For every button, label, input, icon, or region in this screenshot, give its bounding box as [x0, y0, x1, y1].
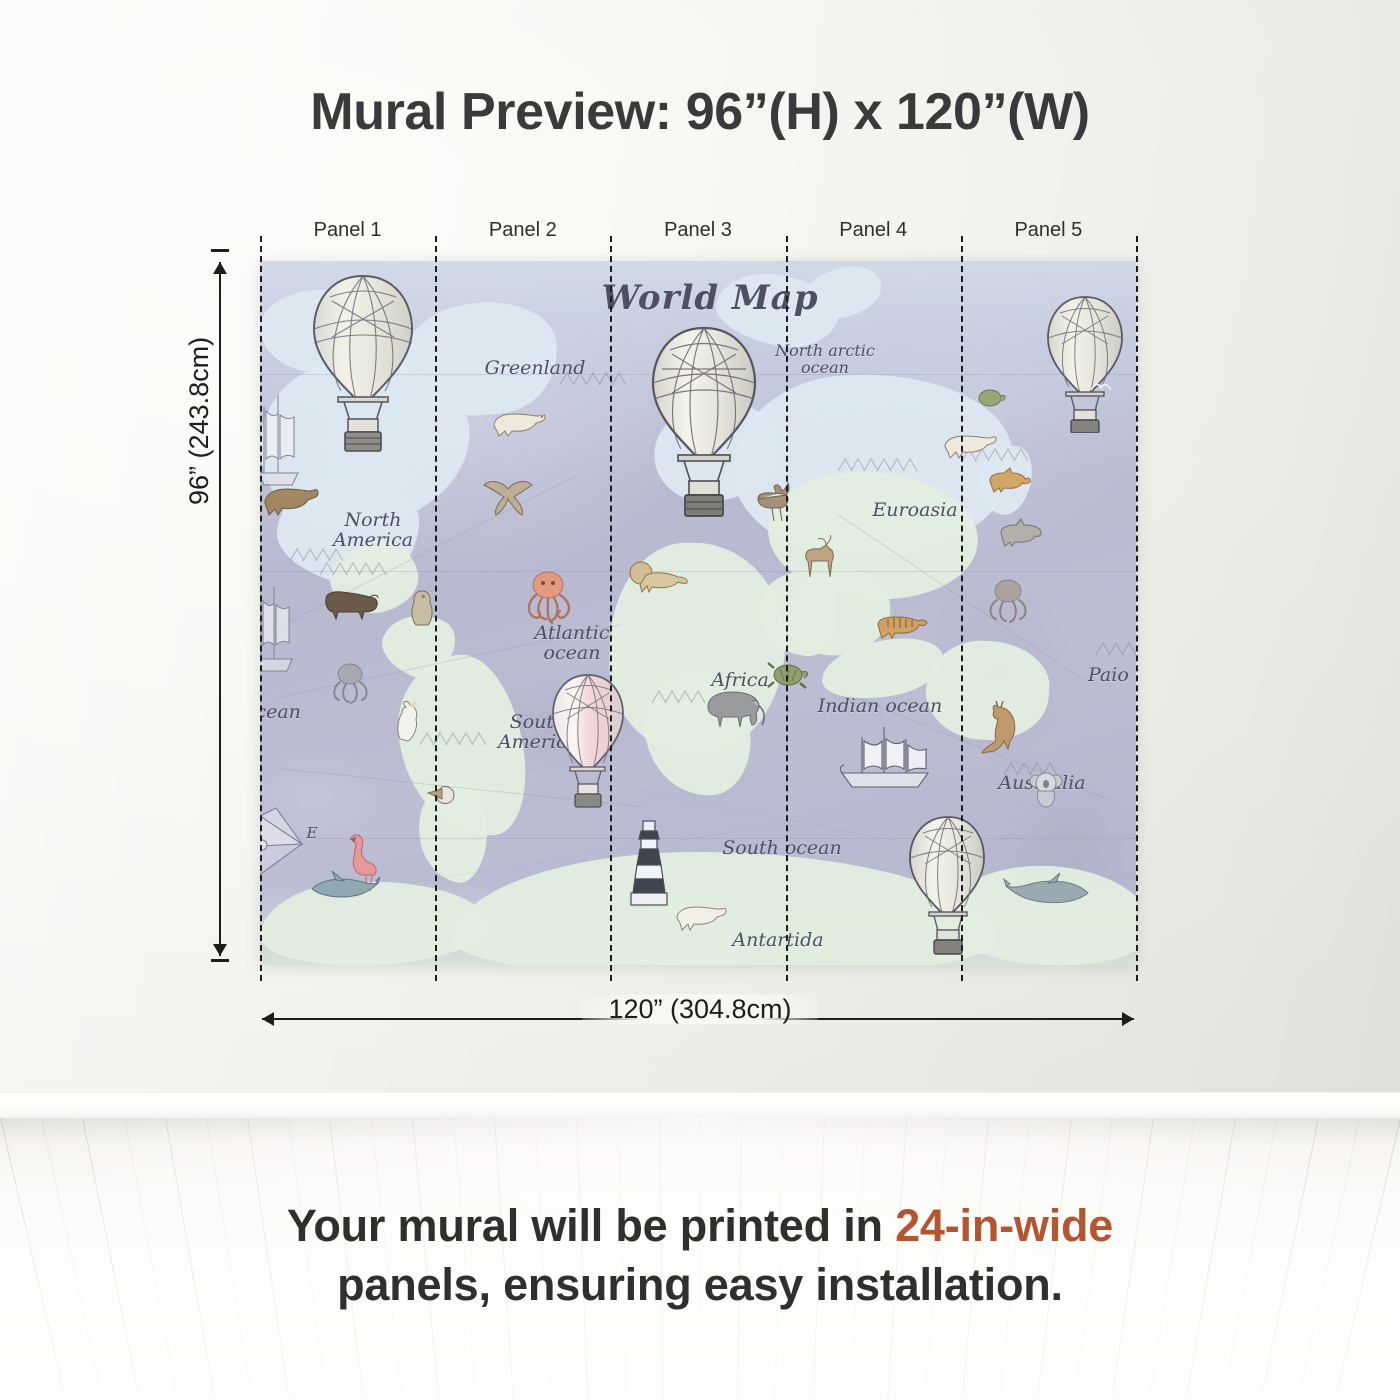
shark-left-icon [310, 869, 382, 903]
octopus-grey-left-icon [326, 661, 374, 707]
hot-air-balloon-center [648, 323, 760, 523]
sailing-ship-indian-ocean [834, 723, 934, 795]
octopus-pacific-icon [982, 577, 1034, 627]
map-mountain-range-icon [290, 547, 348, 568]
tiger-icon [872, 607, 930, 639]
height-tick-bottom [211, 959, 229, 962]
sailing-ship-left-lower [260, 581, 294, 681]
panel-divider-line [260, 236, 262, 981]
bird-small-icon [1090, 381, 1112, 395]
shark-right-icon [1002, 871, 1092, 911]
elephant-icon [700, 683, 768, 729]
map-mountain-range-icon [420, 731, 491, 752]
height-tick-top [211, 249, 229, 252]
height-dimension-line [213, 262, 227, 956]
hot-air-balloon-pink-atlantic [550, 671, 626, 811]
hot-air-balloon-south-ocean [908, 813, 988, 955]
caption-line-1-prefix: Your mural will be printed in [287, 1200, 895, 1251]
toucan-icon [426, 779, 466, 809]
panel-divider-line [786, 236, 788, 981]
turtle-icon [766, 659, 810, 693]
panel-divider-line [1136, 236, 1138, 981]
bison-icon [320, 585, 382, 623]
cockatoo-icon [390, 699, 424, 745]
fox-icon [984, 463, 1032, 493]
panel-divider-line [435, 236, 437, 981]
width-dimension-text: 120” (304.8cm) [582, 994, 817, 1024]
panel-label-3: Panel 3 [608, 219, 788, 242]
footer-caption: Your mural will be printed in 24-in-wide… [0, 1196, 1400, 1315]
lighthouse-icon [628, 817, 670, 909]
panel-label-1: Panel 1 [258, 219, 438, 242]
hot-air-balloon-top-left [308, 271, 418, 456]
caption-highlight: 24-in-wide [895, 1200, 1113, 1251]
panel-label-5: Panel 5 [958, 219, 1138, 242]
caption-line-1: Your mural will be printed in 24-in-wide [0, 1196, 1400, 1255]
width-dimension-label: 120” (304.8cm) [0, 994, 1400, 1025]
map-mountain-range-icon [560, 371, 631, 392]
polar-bear-greenland-icon [488, 404, 548, 438]
eagle-icon [482, 477, 534, 517]
map-mountain-range-icon [1096, 641, 1136, 662]
caption-line-2: panels, ensuring easy installation. [0, 1255, 1400, 1314]
wolf-icon [996, 515, 1046, 547]
panel-label-2: Panel 2 [433, 219, 613, 242]
turtle-indian-icon [972, 385, 1008, 411]
panel-divider-line [610, 236, 612, 981]
bird-icon-ca [406, 587, 438, 631]
octopus-atlantic-icon [518, 569, 578, 627]
koala-icon [1028, 769, 1064, 809]
hot-air-balloon-top-right [1044, 293, 1126, 433]
panel-label-4: Panel 4 [783, 219, 963, 242]
bear-antarctica-icon [672, 899, 728, 931]
mural-artwork[interactable]: World Map Greenland North arctic ocean N… [260, 261, 1136, 965]
lion-icon [628, 559, 690, 593]
map-mountain-range-icon [838, 457, 922, 478]
height-dimension-label: 96” (243.8cm) [184, 337, 215, 505]
deer-icon [796, 533, 840, 581]
polar-bear-arctic-icon [940, 427, 998, 459]
mural-preview-stage: World Map Greenland North arctic ocean N… [0, 0, 1400, 1118]
panel-divider-line [961, 236, 963, 981]
kangaroo-icon [980, 701, 1026, 757]
bear-north-america-icon [260, 479, 320, 517]
